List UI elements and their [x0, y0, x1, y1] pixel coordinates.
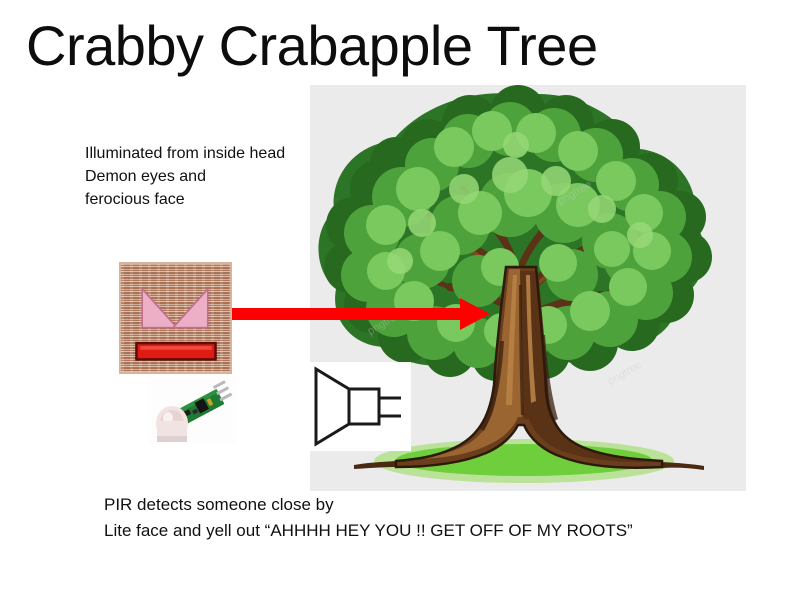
pir-sensor-graphic: [148, 378, 236, 444]
demon-face-features: [121, 264, 230, 372]
page-title: Crabby Crabapple Tree: [26, 15, 598, 77]
demon-face-graphic: [119, 262, 232, 374]
speaker-symbol-graphic: [305, 362, 411, 451]
pir-sensor-illustration: [148, 378, 236, 444]
annotation-top: Illuminated from inside head Demon eyes …: [85, 142, 285, 211]
annotation-bottom: PIR detects someone close by Lite face a…: [104, 492, 633, 544]
speaker-icon: [305, 362, 411, 451]
slide-canvas: Crabby Crabapple Tree: [0, 0, 810, 607]
red-arrow-icon: [232, 296, 490, 332]
